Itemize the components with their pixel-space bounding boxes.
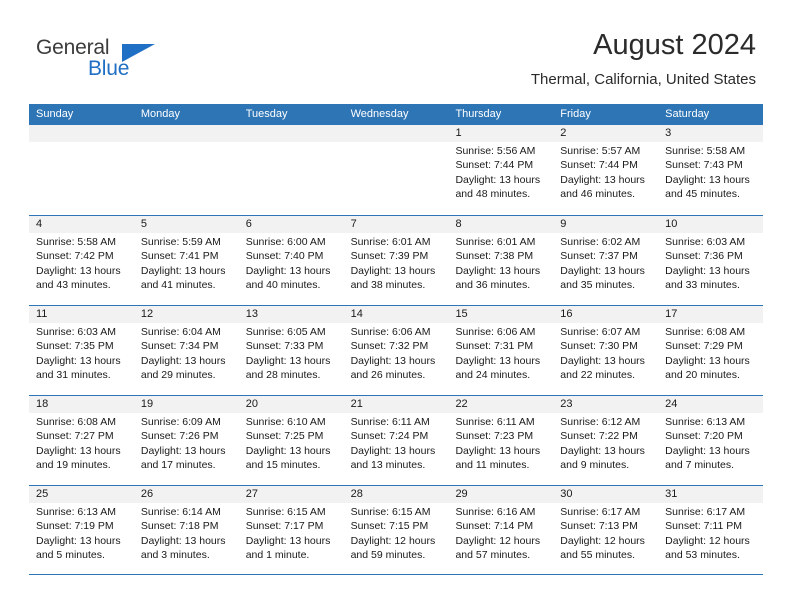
day-number: 27 (239, 486, 344, 503)
day-detail-line: Sunset: 7:29 PM (665, 339, 757, 353)
day-detail-line: Sunset: 7:41 PM (141, 249, 233, 263)
day-number: 26 (134, 486, 239, 503)
day-detail-line: Sunrise: 5:58 AM (36, 235, 128, 249)
logo-text-blue: Blue (88, 57, 129, 81)
day-cell[interactable]: 5Sunrise: 5:59 AMSunset: 7:41 PMDaylight… (134, 216, 239, 305)
calendar-grid: SundayMondayTuesdayWednesdayThursdayFrid… (29, 104, 763, 575)
calendar-weeks: 1Sunrise: 5:56 AMSunset: 7:44 PMDaylight… (29, 125, 763, 575)
day-details: Sunrise: 6:10 AMSunset: 7:25 PMDaylight:… (239, 413, 344, 472)
day-number: 13 (239, 306, 344, 323)
day-detail-line: Sunrise: 6:05 AM (246, 325, 338, 339)
day-number: 1 (448, 125, 553, 142)
weekday-header-saturday: Saturday (658, 104, 763, 125)
day-detail-line: Daylight: 13 hours (246, 354, 338, 368)
day-detail-line: Sunrise: 6:01 AM (455, 235, 547, 249)
weekday-header-tuesday: Tuesday (239, 104, 344, 125)
day-details: Sunrise: 6:09 AMSunset: 7:26 PMDaylight:… (134, 413, 239, 472)
day-cell-empty (134, 125, 239, 215)
day-detail-line: Daylight: 12 hours (665, 534, 757, 548)
day-cell[interactable]: 14Sunrise: 6:06 AMSunset: 7:32 PMDayligh… (344, 306, 449, 395)
day-detail-line: and 17 minutes. (141, 458, 233, 472)
day-detail-line: Sunset: 7:14 PM (455, 519, 547, 533)
day-cell[interactable]: 13Sunrise: 6:05 AMSunset: 7:33 PMDayligh… (239, 306, 344, 395)
day-detail-line: and 46 minutes. (560, 187, 652, 201)
day-detail-line: and 5 minutes. (36, 548, 128, 562)
day-details: Sunrise: 6:15 AMSunset: 7:17 PMDaylight:… (239, 503, 344, 562)
day-detail-line: Sunset: 7:17 PM (246, 519, 338, 533)
day-detail-line: Sunset: 7:19 PM (36, 519, 128, 533)
day-number: 3 (658, 125, 763, 142)
day-cell[interactable]: 26Sunrise: 6:14 AMSunset: 7:18 PMDayligh… (134, 486, 239, 574)
day-cell[interactable]: 11Sunrise: 6:03 AMSunset: 7:35 PMDayligh… (29, 306, 134, 395)
day-details: Sunrise: 6:14 AMSunset: 7:18 PMDaylight:… (134, 503, 239, 562)
day-detail-line: and 31 minutes. (36, 368, 128, 382)
day-cell[interactable]: 29Sunrise: 6:16 AMSunset: 7:14 PMDayligh… (448, 486, 553, 574)
day-detail-line: Sunset: 7:43 PM (665, 158, 757, 172)
day-cell[interactable]: 23Sunrise: 6:12 AMSunset: 7:22 PMDayligh… (553, 396, 658, 485)
day-detail-line: Sunrise: 6:08 AM (36, 415, 128, 429)
day-detail-line: Sunset: 7:27 PM (36, 429, 128, 443)
day-detail-line: Sunrise: 6:00 AM (246, 235, 338, 249)
day-cell[interactable]: 24Sunrise: 6:13 AMSunset: 7:20 PMDayligh… (658, 396, 763, 485)
day-detail-line: Sunset: 7:24 PM (351, 429, 443, 443)
day-detail-line: Daylight: 13 hours (351, 444, 443, 458)
day-cell[interactable]: 8Sunrise: 6:01 AMSunset: 7:38 PMDaylight… (448, 216, 553, 305)
day-detail-line: and 38 minutes. (351, 278, 443, 292)
day-detail-line: Daylight: 13 hours (665, 444, 757, 458)
day-number: 2 (553, 125, 658, 142)
day-number: 20 (239, 396, 344, 413)
day-detail-line: Sunset: 7:38 PM (455, 249, 547, 263)
day-details: Sunrise: 6:17 AMSunset: 7:11 PMDaylight:… (658, 503, 763, 562)
day-detail-line: Daylight: 12 hours (560, 534, 652, 548)
day-cell[interactable]: 19Sunrise: 6:09 AMSunset: 7:26 PMDayligh… (134, 396, 239, 485)
day-details: Sunrise: 5:57 AMSunset: 7:44 PMDaylight:… (553, 142, 658, 201)
day-detail-line: and 55 minutes. (560, 548, 652, 562)
day-detail-line: and 22 minutes. (560, 368, 652, 382)
day-number: 17 (658, 306, 763, 323)
day-detail-line: Sunset: 7:37 PM (560, 249, 652, 263)
day-detail-line: Daylight: 13 hours (665, 264, 757, 278)
day-detail-line: Daylight: 13 hours (351, 354, 443, 368)
day-cell[interactable]: 2Sunrise: 5:57 AMSunset: 7:44 PMDaylight… (553, 125, 658, 215)
day-detail-line: Sunset: 7:25 PM (246, 429, 338, 443)
day-detail-line: Sunrise: 6:01 AM (351, 235, 443, 249)
day-detail-line: and 59 minutes. (351, 548, 443, 562)
calendar-page: General Blue August 2024 Thermal, Califo… (0, 0, 792, 612)
day-number: 7 (344, 216, 449, 233)
day-detail-line: Sunset: 7:18 PM (141, 519, 233, 533)
day-detail-line: Daylight: 13 hours (36, 264, 128, 278)
day-detail-line: and 24 minutes. (455, 368, 547, 382)
calendar-week-row: 18Sunrise: 6:08 AMSunset: 7:27 PMDayligh… (29, 395, 763, 485)
weekday-header-sunday: Sunday (29, 104, 134, 125)
day-details (134, 142, 239, 144)
day-detail-line: Sunrise: 6:06 AM (455, 325, 547, 339)
day-number: 4 (29, 216, 134, 233)
day-detail-line: Sunrise: 6:09 AM (141, 415, 233, 429)
day-details: Sunrise: 6:15 AMSunset: 7:15 PMDaylight:… (344, 503, 449, 562)
day-detail-line: and 40 minutes. (246, 278, 338, 292)
day-cell-empty (344, 125, 449, 215)
page-subtitle-location: Thermal, California, United States (531, 71, 756, 89)
day-detail-line: Sunset: 7:31 PM (455, 339, 547, 353)
day-number: 21 (344, 396, 449, 413)
day-number: 23 (553, 396, 658, 413)
day-detail-line: and 45 minutes. (665, 187, 757, 201)
day-detail-line: and 15 minutes. (246, 458, 338, 472)
day-cell[interactable]: 21Sunrise: 6:11 AMSunset: 7:24 PMDayligh… (344, 396, 449, 485)
day-detail-line: Sunset: 7:22 PM (560, 429, 652, 443)
day-detail-line: and 41 minutes. (141, 278, 233, 292)
day-detail-line: and 57 minutes. (455, 548, 547, 562)
day-detail-line: Daylight: 13 hours (246, 444, 338, 458)
day-number: 19 (134, 396, 239, 413)
day-detail-line: Sunset: 7:39 PM (351, 249, 443, 263)
day-cell[interactable]: 30Sunrise: 6:17 AMSunset: 7:13 PMDayligh… (553, 486, 658, 574)
day-details: Sunrise: 6:11 AMSunset: 7:23 PMDaylight:… (448, 413, 553, 472)
day-detail-line: Sunrise: 5:57 AM (560, 144, 652, 158)
day-detail-line: Sunrise: 6:03 AM (36, 325, 128, 339)
day-details (239, 142, 344, 144)
day-detail-line: Daylight: 13 hours (665, 173, 757, 187)
day-detail-line: Sunrise: 6:11 AM (455, 415, 547, 429)
day-detail-line: Daylight: 13 hours (455, 173, 547, 187)
calendar-week-row: 1Sunrise: 5:56 AMSunset: 7:44 PMDaylight… (29, 125, 763, 215)
day-number: 28 (344, 486, 449, 503)
day-number: 14 (344, 306, 449, 323)
day-detail-line: Sunset: 7:13 PM (560, 519, 652, 533)
day-detail-line: Daylight: 13 hours (36, 444, 128, 458)
day-detail-line: Sunset: 7:23 PM (455, 429, 547, 443)
day-detail-line: Daylight: 12 hours (351, 534, 443, 548)
day-cell[interactable]: 10Sunrise: 6:03 AMSunset: 7:36 PMDayligh… (658, 216, 763, 305)
day-details: Sunrise: 5:58 AMSunset: 7:42 PMDaylight:… (29, 233, 134, 292)
day-detail-line: Sunrise: 6:08 AM (665, 325, 757, 339)
day-number: 9 (553, 216, 658, 233)
day-details: Sunrise: 6:17 AMSunset: 7:13 PMDaylight:… (553, 503, 658, 562)
day-detail-line: Daylight: 13 hours (560, 173, 652, 187)
day-details: Sunrise: 6:06 AMSunset: 7:31 PMDaylight:… (448, 323, 553, 382)
page-title: August 2024 (531, 28, 756, 62)
day-detail-line: and 33 minutes. (665, 278, 757, 292)
day-cell[interactable]: 7Sunrise: 6:01 AMSunset: 7:39 PMDaylight… (344, 216, 449, 305)
day-cell[interactable]: 31Sunrise: 6:17 AMSunset: 7:11 PMDayligh… (658, 486, 763, 574)
day-number (344, 125, 449, 142)
day-detail-line: Daylight: 13 hours (141, 444, 233, 458)
day-cell[interactable]: 25Sunrise: 6:13 AMSunset: 7:19 PMDayligh… (29, 486, 134, 574)
general-blue-logo[interactable]: General Blue (36, 36, 166, 84)
day-number: 15 (448, 306, 553, 323)
day-detail-line: Sunset: 7:36 PM (665, 249, 757, 263)
day-details: Sunrise: 6:00 AMSunset: 7:40 PMDaylight:… (239, 233, 344, 292)
day-details: Sunrise: 5:59 AMSunset: 7:41 PMDaylight:… (134, 233, 239, 292)
day-detail-line: and 1 minute. (246, 548, 338, 562)
day-detail-line: Daylight: 13 hours (560, 354, 652, 368)
day-number: 18 (29, 396, 134, 413)
day-details: Sunrise: 5:56 AMSunset: 7:44 PMDaylight:… (448, 142, 553, 201)
day-cell-empty (239, 125, 344, 215)
day-detail-line: Sunrise: 6:17 AM (560, 505, 652, 519)
calendar-week-row: 11Sunrise: 6:03 AMSunset: 7:35 PMDayligh… (29, 305, 763, 395)
day-detail-line: Sunrise: 6:10 AM (246, 415, 338, 429)
day-cell[interactable]: 4Sunrise: 5:58 AMSunset: 7:42 PMDaylight… (29, 216, 134, 305)
day-number: 24 (658, 396, 763, 413)
day-detail-line: Daylight: 13 hours (455, 444, 547, 458)
day-detail-line: Sunset: 7:40 PM (246, 249, 338, 263)
day-detail-line: Sunset: 7:11 PM (665, 519, 757, 533)
weekday-header-monday: Monday (134, 104, 239, 125)
day-number: 8 (448, 216, 553, 233)
day-details: Sunrise: 6:11 AMSunset: 7:24 PMDaylight:… (344, 413, 449, 472)
day-details (29, 142, 134, 144)
day-detail-line: Sunrise: 6:14 AM (141, 505, 233, 519)
day-detail-line: Daylight: 13 hours (36, 354, 128, 368)
weekday-header-thursday: Thursday (448, 104, 553, 125)
day-number: 6 (239, 216, 344, 233)
day-detail-line: Sunrise: 6:16 AM (455, 505, 547, 519)
day-details: Sunrise: 6:06 AMSunset: 7:32 PMDaylight:… (344, 323, 449, 382)
day-detail-line: Sunrise: 6:17 AM (665, 505, 757, 519)
day-detail-line: and 11 minutes. (455, 458, 547, 472)
day-number: 11 (29, 306, 134, 323)
day-number: 25 (29, 486, 134, 503)
calendar-week-row: 4Sunrise: 5:58 AMSunset: 7:42 PMDaylight… (29, 215, 763, 305)
day-number (239, 125, 344, 142)
day-cell[interactable]: 1Sunrise: 5:56 AMSunset: 7:44 PMDaylight… (448, 125, 553, 215)
day-detail-line: and 28 minutes. (246, 368, 338, 382)
day-detail-line: and 19 minutes. (36, 458, 128, 472)
day-detail-line: Sunset: 7:42 PM (36, 249, 128, 263)
day-detail-line: Sunset: 7:20 PM (665, 429, 757, 443)
day-detail-line: Daylight: 13 hours (246, 264, 338, 278)
day-detail-line: Sunrise: 5:58 AM (665, 144, 757, 158)
day-number: 12 (134, 306, 239, 323)
day-detail-line: Sunrise: 5:59 AM (141, 235, 233, 249)
day-detail-line: Sunrise: 6:13 AM (665, 415, 757, 429)
day-details: Sunrise: 6:13 AMSunset: 7:20 PMDaylight:… (658, 413, 763, 472)
day-detail-line: Sunrise: 6:04 AM (141, 325, 233, 339)
day-detail-line: and 43 minutes. (36, 278, 128, 292)
day-detail-line: Daylight: 13 hours (455, 354, 547, 368)
day-details: Sunrise: 6:12 AMSunset: 7:22 PMDaylight:… (553, 413, 658, 472)
day-detail-line: and 48 minutes. (455, 187, 547, 201)
day-detail-line: Sunrise: 6:06 AM (351, 325, 443, 339)
day-details: Sunrise: 6:03 AMSunset: 7:35 PMDaylight:… (29, 323, 134, 382)
day-details: Sunrise: 6:13 AMSunset: 7:19 PMDaylight:… (29, 503, 134, 562)
day-detail-line: Daylight: 13 hours (665, 354, 757, 368)
day-detail-line: and 29 minutes. (141, 368, 233, 382)
weekday-header-friday: Friday (553, 104, 658, 125)
day-details: Sunrise: 6:01 AMSunset: 7:38 PMDaylight:… (448, 233, 553, 292)
day-detail-line: Sunset: 7:26 PM (141, 429, 233, 443)
day-number: 31 (658, 486, 763, 503)
day-details: Sunrise: 6:02 AMSunset: 7:37 PMDaylight:… (553, 233, 658, 292)
day-detail-line: Sunrise: 6:13 AM (36, 505, 128, 519)
day-cell[interactable]: 16Sunrise: 6:07 AMSunset: 7:30 PMDayligh… (553, 306, 658, 395)
day-details: Sunrise: 6:01 AMSunset: 7:39 PMDaylight:… (344, 233, 449, 292)
day-detail-line: and 53 minutes. (665, 548, 757, 562)
day-details: Sunrise: 5:58 AMSunset: 7:43 PMDaylight:… (658, 142, 763, 201)
day-number: 5 (134, 216, 239, 233)
day-cell[interactable]: 27Sunrise: 6:15 AMSunset: 7:17 PMDayligh… (239, 486, 344, 574)
day-detail-line: Sunset: 7:44 PM (455, 158, 547, 172)
day-cell[interactable]: 28Sunrise: 6:15 AMSunset: 7:15 PMDayligh… (344, 486, 449, 574)
day-detail-line: and 35 minutes. (560, 278, 652, 292)
day-detail-line: Daylight: 13 hours (36, 534, 128, 548)
day-detail-line: Sunset: 7:35 PM (36, 339, 128, 353)
day-number: 10 (658, 216, 763, 233)
day-detail-line: Sunrise: 6:12 AM (560, 415, 652, 429)
day-cell[interactable]: 18Sunrise: 6:08 AMSunset: 7:27 PMDayligh… (29, 396, 134, 485)
day-cell[interactable]: 15Sunrise: 6:06 AMSunset: 7:31 PMDayligh… (448, 306, 553, 395)
day-details: Sunrise: 6:08 AMSunset: 7:29 PMDaylight:… (658, 323, 763, 382)
day-detail-line: Daylight: 12 hours (455, 534, 547, 548)
day-detail-line: and 7 minutes. (665, 458, 757, 472)
page-header: General Blue August 2024 Thermal, Califo… (0, 0, 792, 103)
day-detail-line: Daylight: 13 hours (351, 264, 443, 278)
day-detail-line: Sunrise: 6:02 AM (560, 235, 652, 249)
day-detail-line: Daylight: 13 hours (560, 264, 652, 278)
day-detail-line: Sunset: 7:34 PM (141, 339, 233, 353)
day-detail-line: Daylight: 13 hours (141, 354, 233, 368)
day-detail-line: Sunrise: 6:11 AM (351, 415, 443, 429)
day-detail-line: Sunrise: 6:15 AM (246, 505, 338, 519)
weekday-header-row: SundayMondayTuesdayWednesdayThursdayFrid… (29, 104, 763, 125)
day-detail-line: Sunset: 7:44 PM (560, 158, 652, 172)
day-number: 16 (553, 306, 658, 323)
title-block: August 2024 Thermal, California, United … (531, 28, 756, 89)
day-cell[interactable]: 17Sunrise: 6:08 AMSunset: 7:29 PMDayligh… (658, 306, 763, 395)
day-detail-line: and 20 minutes. (665, 368, 757, 382)
day-details: Sunrise: 6:04 AMSunset: 7:34 PMDaylight:… (134, 323, 239, 382)
day-detail-line: Daylight: 13 hours (455, 264, 547, 278)
day-details: Sunrise: 6:08 AMSunset: 7:27 PMDaylight:… (29, 413, 134, 472)
day-number: 22 (448, 396, 553, 413)
day-detail-line: Sunset: 7:30 PM (560, 339, 652, 353)
day-detail-line: and 13 minutes. (351, 458, 443, 472)
day-detail-line: Sunset: 7:15 PM (351, 519, 443, 533)
day-number (29, 125, 134, 142)
day-detail-line: Sunrise: 6:07 AM (560, 325, 652, 339)
day-detail-line: Daylight: 13 hours (141, 534, 233, 548)
day-detail-line: Daylight: 13 hours (560, 444, 652, 458)
day-detail-line: Sunset: 7:33 PM (246, 339, 338, 353)
day-detail-line: Sunset: 7:32 PM (351, 339, 443, 353)
day-details: Sunrise: 6:05 AMSunset: 7:33 PMDaylight:… (239, 323, 344, 382)
day-number (134, 125, 239, 142)
day-number: 29 (448, 486, 553, 503)
day-details: Sunrise: 6:16 AMSunset: 7:14 PMDaylight:… (448, 503, 553, 562)
day-details: Sunrise: 6:07 AMSunset: 7:30 PMDaylight:… (553, 323, 658, 382)
day-detail-line: Sunrise: 6:03 AM (665, 235, 757, 249)
day-detail-line: Sunrise: 5:56 AM (455, 144, 547, 158)
day-detail-line: and 3 minutes. (141, 548, 233, 562)
day-cell[interactable]: 9Sunrise: 6:02 AMSunset: 7:37 PMDaylight… (553, 216, 658, 305)
day-cell[interactable]: 3Sunrise: 5:58 AMSunset: 7:43 PMDaylight… (658, 125, 763, 215)
day-detail-line: and 26 minutes. (351, 368, 443, 382)
day-details (344, 142, 449, 144)
day-detail-line: Sunrise: 6:15 AM (351, 505, 443, 519)
day-detail-line: Daylight: 13 hours (246, 534, 338, 548)
day-number: 30 (553, 486, 658, 503)
weekday-header-wednesday: Wednesday (344, 104, 449, 125)
day-cell[interactable]: 12Sunrise: 6:04 AMSunset: 7:34 PMDayligh… (134, 306, 239, 395)
day-details: Sunrise: 6:03 AMSunset: 7:36 PMDaylight:… (658, 233, 763, 292)
calendar-week-row: 25Sunrise: 6:13 AMSunset: 7:19 PMDayligh… (29, 485, 763, 575)
day-cell[interactable]: 22Sunrise: 6:11 AMSunset: 7:23 PMDayligh… (448, 396, 553, 485)
day-detail-line: and 9 minutes. (560, 458, 652, 472)
day-detail-line: and 36 minutes. (455, 278, 547, 292)
day-cell[interactable]: 6Sunrise: 6:00 AMSunset: 7:40 PMDaylight… (239, 216, 344, 305)
day-cell-empty (29, 125, 134, 215)
day-detail-line: Daylight: 13 hours (141, 264, 233, 278)
day-cell[interactable]: 20Sunrise: 6:10 AMSunset: 7:25 PMDayligh… (239, 396, 344, 485)
